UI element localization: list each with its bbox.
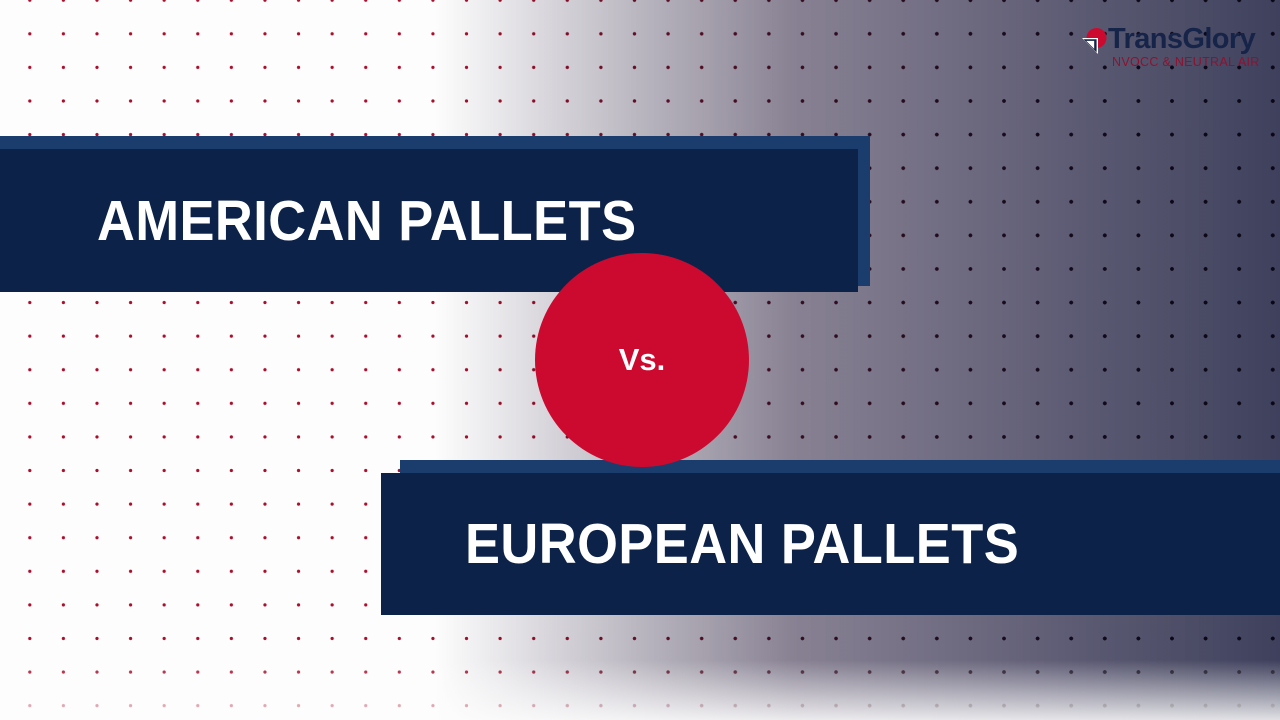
versus-label: Vs. [619,342,666,378]
american-pallets-title: AMERICAN PALLETS [97,188,637,254]
transglory-logo: TransGlory NVOCC & NEUTRAL AIR [1080,22,1260,72]
slide-canvas: AMERICAN PALLETS Vs. EUROPEAN PALLETS Tr… [0,0,1280,720]
european-pallets-title: EUROPEAN PALLETS [465,511,1019,577]
american-pallets-band: AMERICAN PALLETS [0,149,858,292]
transglory-wordmark: TransGlory [1108,22,1255,56]
european-pallets-band: EUROPEAN PALLETS [381,473,1280,615]
versus-circle: Vs. [535,253,749,467]
transglory-logo-mark-icon [1080,27,1108,55]
transglory-tagline: NVOCC & NEUTRAL AIR [1112,55,1260,69]
